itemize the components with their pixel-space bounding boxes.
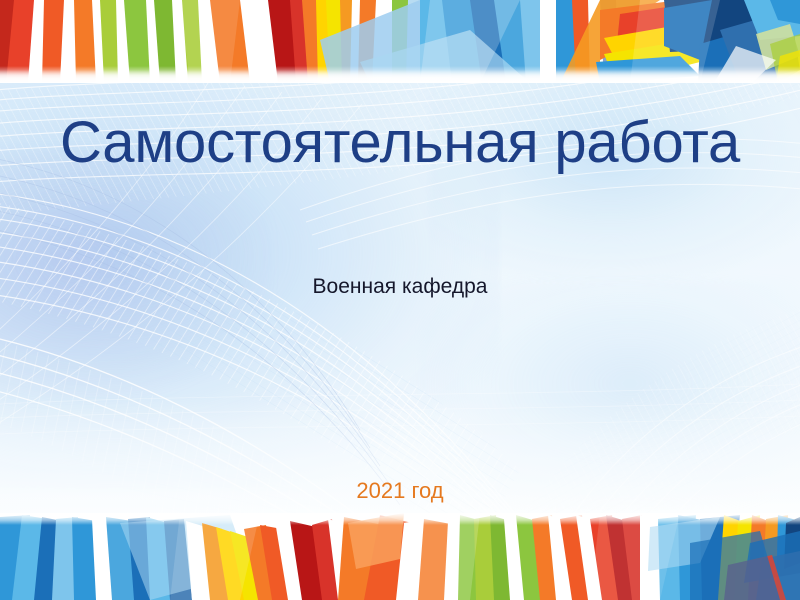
slide-year: 2021 год [0,478,800,504]
presentation-slide: Самостоятельная работа Военная кафедра 2… [0,0,800,600]
slide-subtitle: Военная кафедра [0,274,800,299]
top-decorative-band [0,0,800,83]
slide-title: Самостоятельная работа [0,112,800,173]
bottom-decorative-band [0,513,800,600]
